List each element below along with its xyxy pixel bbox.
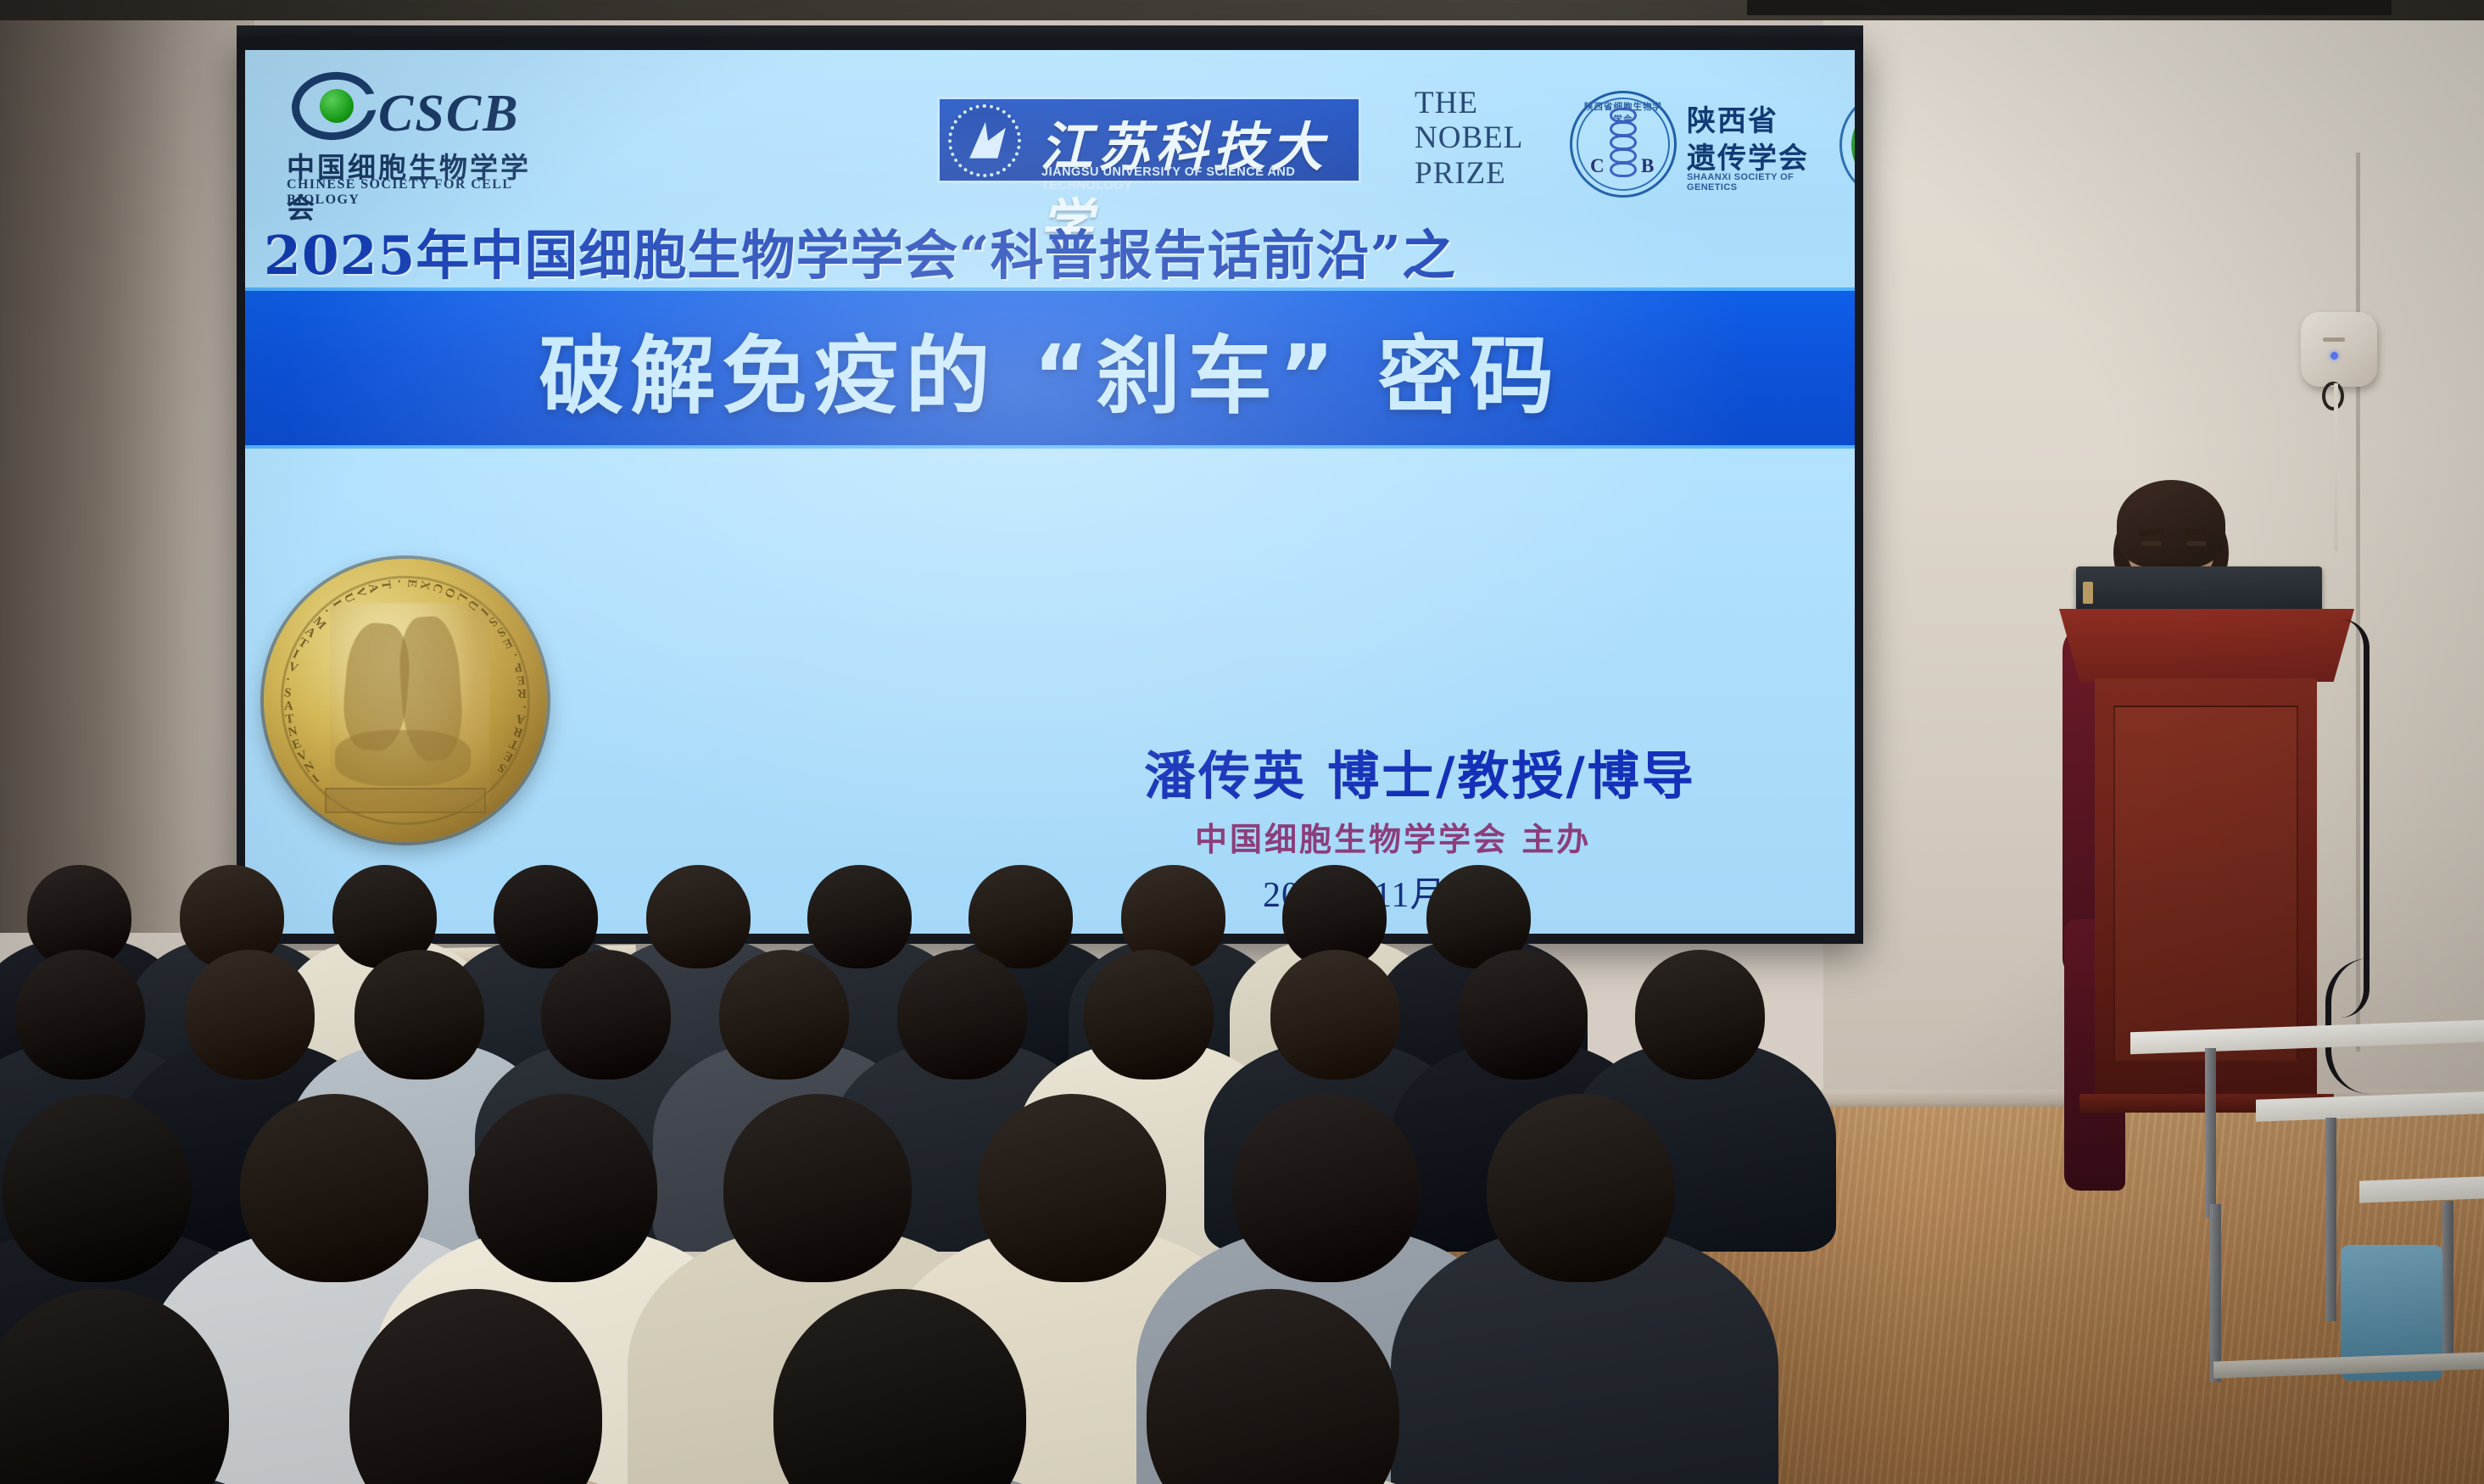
wifi-access-point-icon [2301, 312, 2377, 387]
audience-head [1635, 950, 1765, 1080]
slide-main-title: 破解免疫的 “刹车” 密码 [539, 307, 1560, 430]
logo-shaanxi-genetics-society: 陕西省 遗传学会 SHAANXI SOCIETY OF GENETICS [1687, 91, 1823, 199]
logo-jiangsu-university: 江苏科技大学 JIANGSU UNIVERSITY OF SCIENCE AND… [937, 97, 1361, 183]
slide-eyebrow-line: 2025年中国细胞生物学学会“科普报告话前沿”之 [245, 216, 1855, 286]
wifi-ap-led [2330, 352, 2338, 360]
slide-title-banner: 破解免疫的 “刹车” 密码 [245, 287, 1855, 449]
projected-slide: CSCB 中国细胞生物学学会 CHINESE SOCIETY FOR CELL … [245, 50, 1855, 934]
nobel-medal-image: INVENTAS·VITAM·IUVAT·EXCOLUISSE·PER·ARTE… [264, 559, 547, 842]
laptop-sticker [2083, 582, 2093, 604]
audience-head [719, 950, 849, 1080]
nobel-line-1: THE [1415, 86, 1550, 120]
cscb-cell-icon [292, 67, 380, 145]
desk-top-front [2359, 1176, 2484, 1202]
shaanxi-genetics-line-1: 陕西省 [1687, 98, 1778, 139]
slide-organizer: 中国细胞生物学学会 主办 [1195, 813, 1591, 860]
audience-head [1084, 950, 1214, 1080]
audience-member [1018, 1289, 1564, 1484]
audience-head [1270, 950, 1400, 1080]
audience-head [1147, 1289, 1399, 1484]
cscb-abbreviation: CSCB [378, 84, 520, 144]
logo-cscb: CSCB 中国细胞生物学学会 CHINESE SOCIETY FOR CELL … [283, 65, 555, 199]
audience-head [1487, 1094, 1675, 1282]
podium-front-panel [2113, 706, 2298, 1062]
slide-logo-row: CSCB 中国细胞生物学学会 CHINESE SOCIETY FOR CELL … [245, 50, 1855, 207]
csb-letter-b: B [1641, 155, 1654, 177]
shaanxi-genetics-english: SHAANXI SOCIETY OF GENETICS [1687, 172, 1823, 192]
desk-leg [2210, 1204, 2221, 1382]
dna-helix-icon [1610, 108, 1637, 182]
wifi-ap-slot [2323, 338, 2345, 342]
cable-loop [2322, 382, 2344, 410]
slide-eyebrow-text: 2025年中国细胞生物学学会“科普报告话前沿”之 [264, 213, 1456, 290]
presenter-hair [2117, 480, 2225, 568]
audience-head [0, 1289, 229, 1484]
podium-top [2059, 609, 2354, 682]
audience-head [773, 1289, 1026, 1484]
medal-inscription: INVENTAS·VITAM·IUVAT·EXCOLUISSE·PER·ARTE… [264, 559, 547, 842]
desk-leg [2325, 1118, 2336, 1321]
nobel-line-2: NOBEL [1415, 120, 1550, 155]
audience-head [354, 950, 484, 1080]
university-seal-icon [948, 104, 1021, 177]
presenter-eye-left [2141, 541, 2162, 546]
nobel-line-3: PRIZE [1415, 156, 1550, 191]
desk-leg [2442, 1201, 2453, 1370]
slide-speaker-name: 潘传英 博士/教授/博导 [1144, 734, 1696, 809]
audience-head [1457, 950, 1587, 1080]
audience-head [349, 1289, 602, 1484]
desk-leg [2205, 1048, 2216, 1218]
wall-left-shadow [0, 0, 254, 933]
projection-screen-frame: CSCB 中国细胞生物学学会 CHINESE SOCIETY FOR CELL … [237, 36, 1863, 944]
lecture-hall-photo: CSCB 中国细胞生物学学会 CHINESE SOCIETY FOR CELL … [0, 0, 2484, 1484]
logo-nobel-prize: THE NOBEL PRIZE [1415, 86, 1550, 198]
audience-head [897, 950, 1027, 1080]
logo-agricultural-university: 西北农林科技大学 [1839, 89, 1855, 201]
presenter-eye-right [2186, 541, 2207, 546]
cscb-english-name: CHINESE SOCIETY FOR CELL BIOLOGY [287, 177, 555, 208]
agri-arc-text: 西北农林科技大学 [1848, 94, 1855, 106]
university-english-name: JIANGSU UNIVERSITY OF SCIENCE AND TECHNO… [1041, 165, 1359, 192]
ceiling-panel [1747, 0, 2392, 15]
csb-letter-c: C [1590, 155, 1605, 177]
logo-shaanxi-cell-biology-society: 陕西省细胞生物学学会 C B [1570, 91, 1677, 198]
shaanxi-genetics-line-2: 遗传学会 [1687, 135, 1809, 176]
wifi-ap-cable [2334, 383, 2338, 551]
audience-head [541, 950, 671, 1080]
cscb-nucleus-dot [320, 89, 354, 123]
